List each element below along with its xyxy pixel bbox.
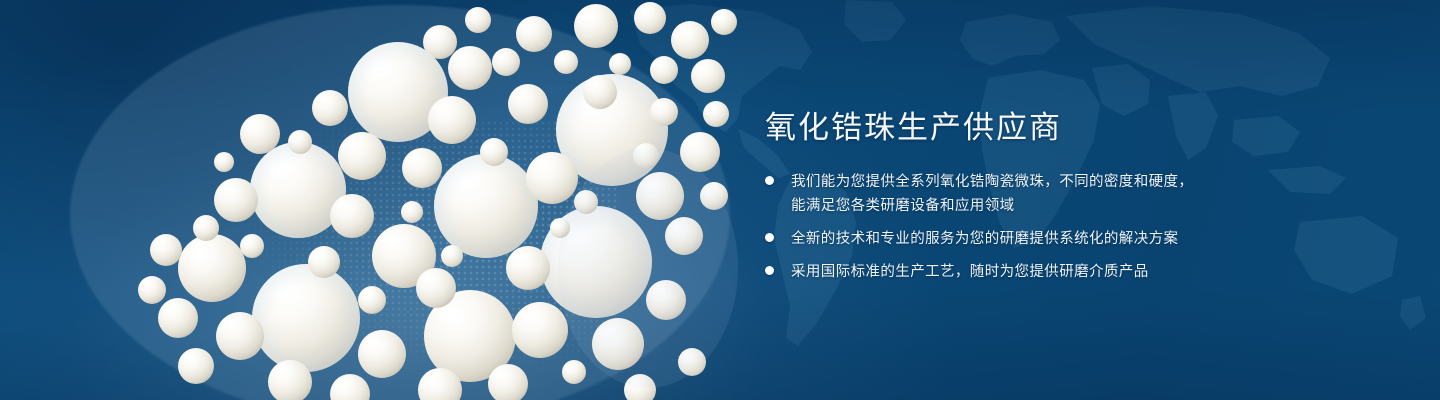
feature-list: 我们能为您提供全系列氧化锆陶瓷微珠，不同的密度和硬度， 能满足您各类研磨设备和应… (765, 170, 1385, 284)
list-item: 采用国际标准的生产工艺，随时为您提供研磨介质产品 (765, 260, 1385, 284)
list-item-line: 全新的技术和专业的服务为您的研磨提供系统化的解决方案 (791, 227, 1178, 251)
list-item-text: 采用国际标准的生产工艺，随时为您提供研磨介质产品 (791, 260, 1149, 284)
list-item: 我们能为您提供全系列氧化锆陶瓷微珠，不同的密度和硬度， 能满足您各类研磨设备和应… (765, 170, 1385, 218)
list-item-line: 采用国际标准的生产工艺，随时为您提供研磨介质产品 (791, 260, 1149, 284)
banner-copy: 氧化锆珠生产供应商 我们能为您提供全系列氧化锆陶瓷微珠，不同的密度和硬度， 能满… (765, 108, 1385, 284)
hero-banner: 氧化锆珠生产供应商 我们能为您提供全系列氧化锆陶瓷微珠，不同的密度和硬度， 能满… (0, 0, 1440, 400)
list-item-text: 全新的技术和专业的服务为您的研磨提供系统化的解决方案 (791, 227, 1178, 251)
page-title: 氧化锆珠生产供应商 (765, 108, 1385, 148)
list-item-text: 我们能为您提供全系列氧化锆陶瓷微珠，不同的密度和硬度， 能满足您各类研磨设备和应… (791, 170, 1193, 218)
bullet-dot-icon (765, 176, 774, 185)
list-item-line: 能满足您各类研磨设备和应用领域 (791, 194, 1193, 218)
list-item-line: 我们能为您提供全系列氧化锆陶瓷微珠，不同的密度和硬度， (791, 170, 1193, 194)
bullet-dot-icon (765, 233, 774, 242)
zirconia-beads-image (0, 0, 760, 400)
list-item: 全新的技术和专业的服务为您的研磨提供系统化的解决方案 (765, 227, 1385, 251)
bullet-dot-icon (765, 266, 774, 275)
